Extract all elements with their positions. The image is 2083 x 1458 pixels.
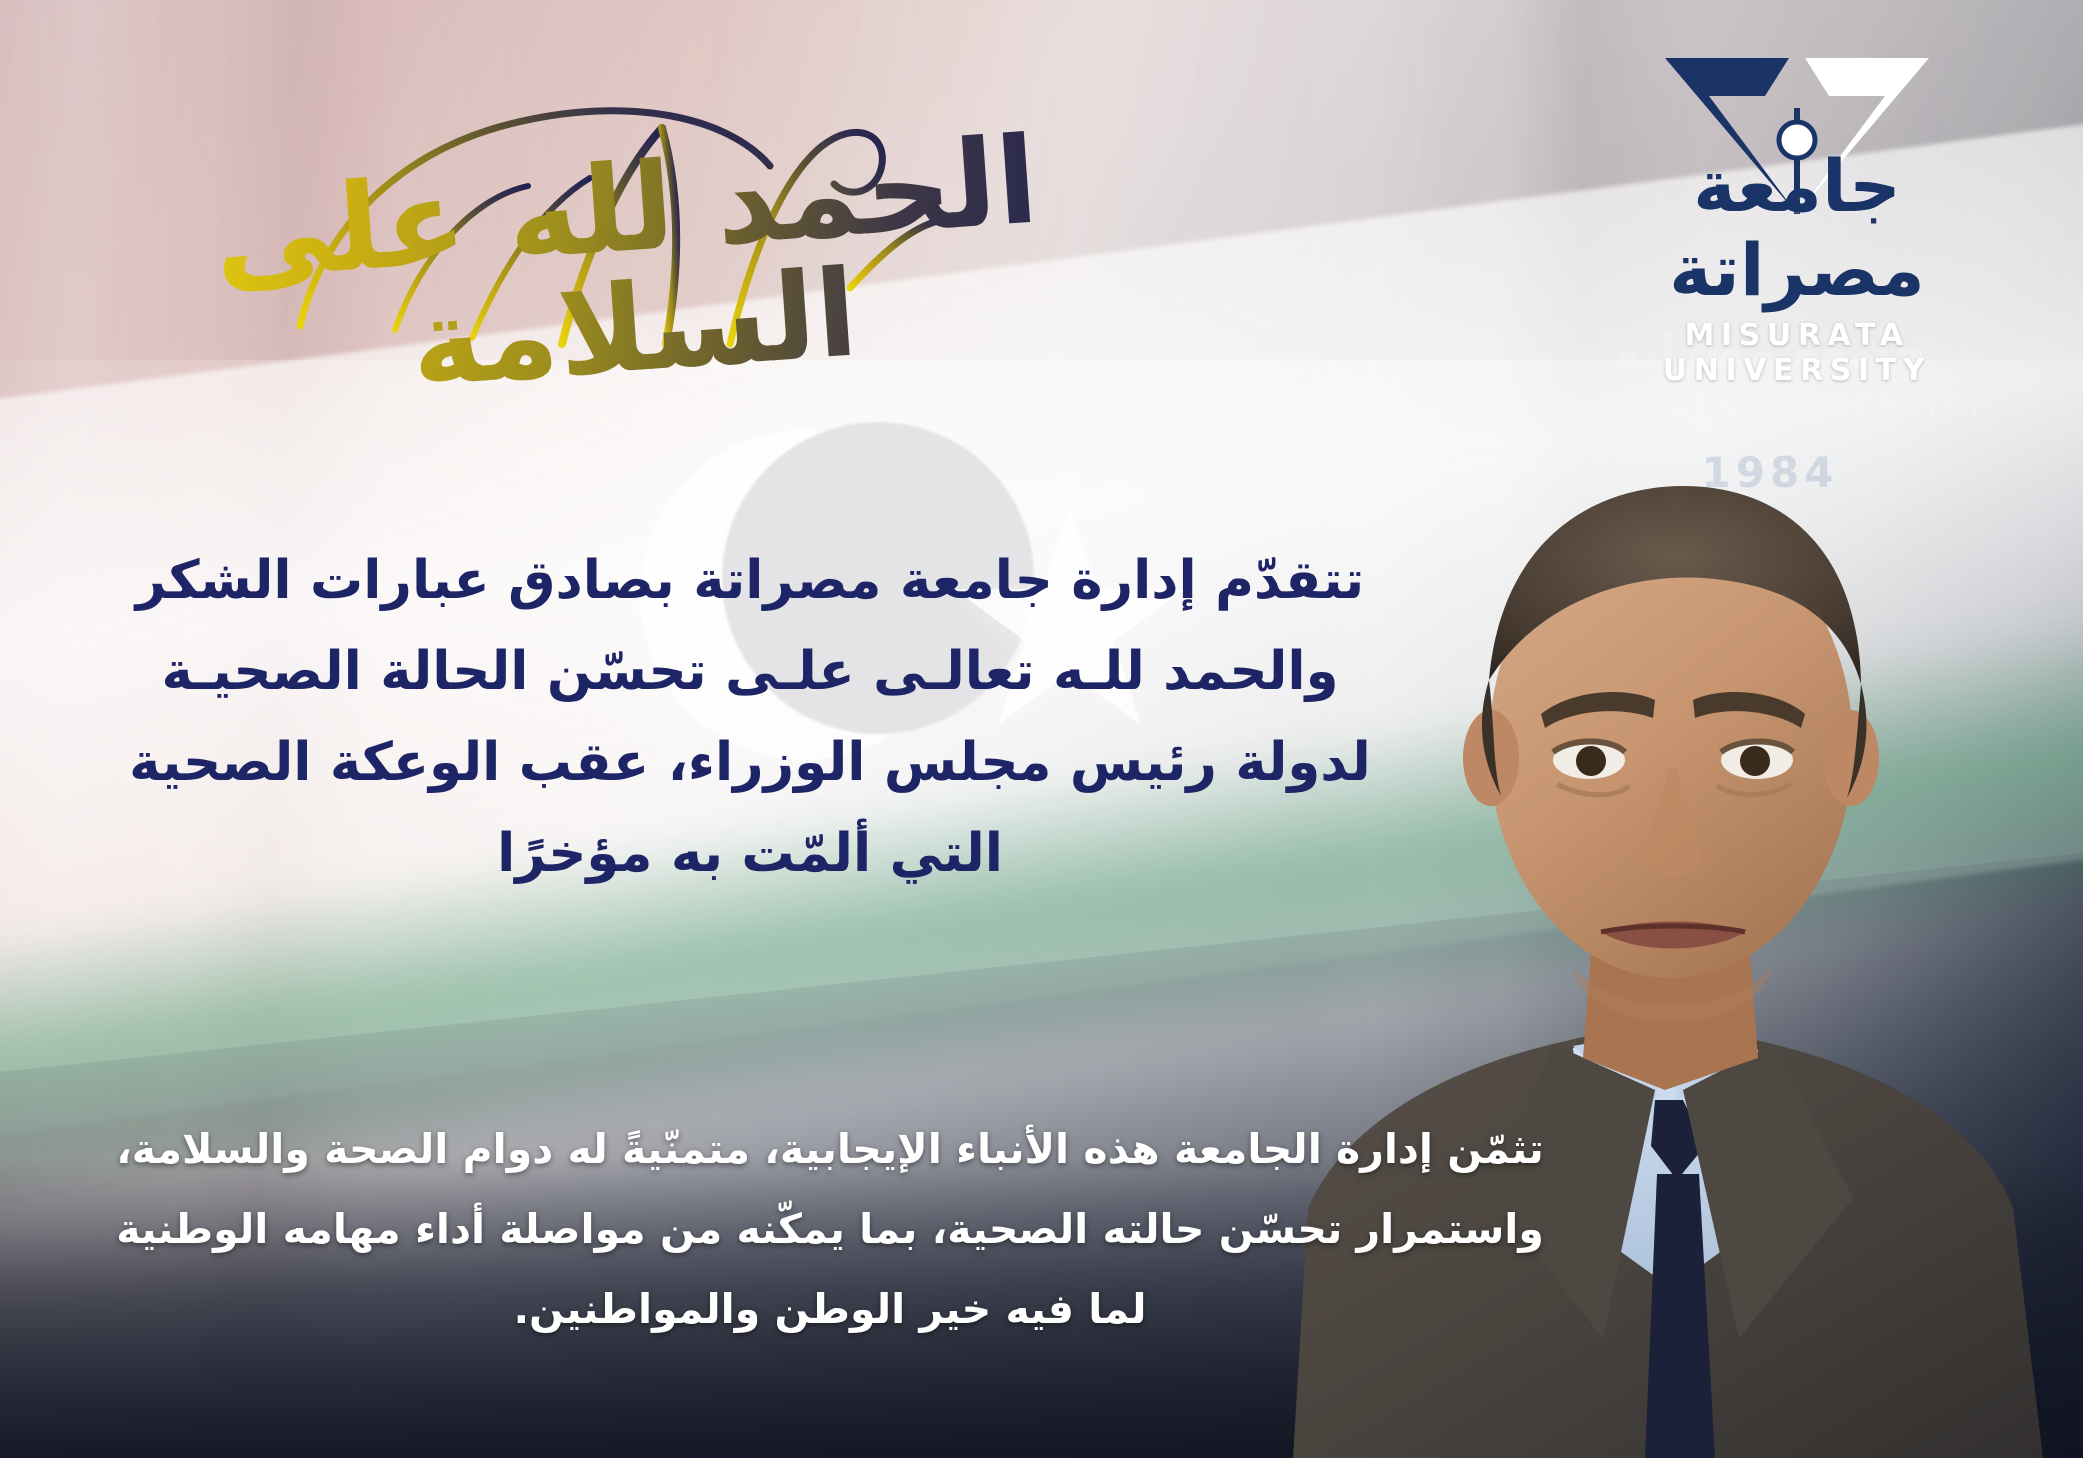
second-paragraph: تثمّن إدارة الجامعة هذه الأنباء الإيجابي…: [110, 1110, 1550, 1350]
second-paragraph-line-1: تثمّن إدارة الجامعة هذه الأنباء الإيجابي…: [110, 1110, 1550, 1190]
main-paragraph-line-2: والحمد للـه تعالـى علـى تحسّن الحالة الص…: [40, 626, 1460, 717]
logo-english-name: MISURATA UNIVERSITY: [1577, 318, 2017, 388]
announcement-poster: ★ جامعة مصراتة MISURATA UNIVERSITY 1984: [0, 0, 2083, 1458]
main-paragraph-line-4: التي ألمّت به مؤخرًا: [40, 808, 1460, 899]
main-paragraph-line-3: لدولة رئيس مجلس الوزراء، عقب الوعكة الصح…: [40, 717, 1460, 808]
main-paragraph-line-1: تتقدّم إدارة جامعة مصراتة بصادق عبارات ا…: [40, 535, 1460, 626]
second-paragraph-line-3: لما فيه خير الوطن والمواطنين.: [110, 1270, 1550, 1350]
main-paragraph: تتقدّم إدارة جامعة مصراتة بصادق عبارات ا…: [40, 535, 1460, 900]
university-logo: جامعة مصراتة MISURATA UNIVERSITY: [1577, 48, 2017, 388]
logo-arabic-name: جامعة مصراتة: [1577, 144, 2017, 312]
second-paragraph-line-2: واستمرار تحسّن حالته الصحية، بما يمكّنه …: [110, 1190, 1550, 1270]
calligraphy-headline: الحمد لله على السلامة: [210, 58, 1050, 358]
